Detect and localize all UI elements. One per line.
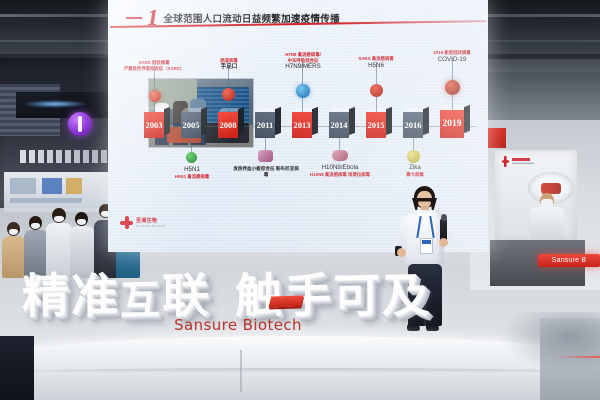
- timeline-label-2014: H10N8/Ebola H10N8 禽流感病毒 埃博拉病毒: [308, 164, 372, 177]
- booth-left-wordmark: [20, 150, 112, 163]
- timeline-block-2008: 2008: [218, 112, 243, 138]
- label-zh: H5N1 禽流感病毒: [164, 174, 220, 180]
- presenter-shoe: [426, 324, 439, 331]
- timeline-year-label: 2019: [440, 110, 464, 138]
- timeline-year-label: 2008: [218, 112, 238, 138]
- headline-red-accent: [268, 295, 303, 307]
- label-en: COVID-19: [418, 56, 486, 64]
- timeline-label-2016: Zika 寨卡病毒: [388, 164, 442, 177]
- headline-char: 联: [162, 275, 209, 321]
- timeline-label-2019: 2019 新型冠状病毒 COVID-19: [418, 50, 486, 63]
- red-light-streak: [556, 356, 600, 358]
- timeline-year-label: 2015: [366, 112, 386, 138]
- headline-char: 准: [71, 275, 118, 321]
- virus-icon-sars: [149, 90, 161, 102]
- face-mask-icon: [541, 199, 553, 207]
- timeline-label-2015: SARS 禽流感病毒 H5N6: [344, 56, 408, 69]
- timeline-block-2014: 2014: [329, 112, 354, 138]
- label-zh2: 严重急性呼吸综合征（SARS）: [114, 66, 194, 72]
- label-en: H5N1: [164, 166, 220, 174]
- headline-char: 及: [382, 275, 429, 321]
- label-en: Zika: [388, 164, 442, 172]
- label-zh2: 手足口: [200, 64, 258, 71]
- timeline-year-label: 2003: [144, 112, 164, 138]
- podium-seam: [240, 350, 242, 392]
- timeline-year-label: 2011: [255, 112, 275, 138]
- label-zh: 寨卡病毒: [388, 172, 442, 178]
- label-en: H7N9/MERS: [268, 63, 338, 71]
- timeline-year-label: 2005: [181, 112, 201, 138]
- booth-right-sansure-logo: [502, 154, 542, 165]
- screenshot-root: Sansure B 1 全球范围人口流动日益频繁加速疫情传播 2003 2005…: [0, 0, 600, 400]
- presenter-badge: [420, 238, 433, 254]
- title-dash: [126, 17, 142, 19]
- timeline-block-2005: 2005: [181, 112, 206, 138]
- timeline-year-label: 2014: [329, 112, 349, 138]
- virus-icon-sfts: [258, 150, 273, 162]
- virus-icon-h5n1: [186, 152, 197, 163]
- headline-char: 互: [120, 282, 160, 321]
- timeline-block-2011: 2011: [255, 112, 280, 138]
- timeline-block-2013: 2013: [292, 112, 317, 138]
- timeline-label-2008: 肠道病毒 手足口: [200, 58, 258, 70]
- timeline-label-2003: SARS 冠状病毒 严重急性呼吸综合征（SARS）: [114, 60, 194, 71]
- timeline-block-2015: 2015: [366, 112, 391, 138]
- timeline-block-2003: 2003: [144, 112, 169, 138]
- headline-char: 可: [333, 275, 380, 321]
- sansure-banner-right: Sansure B: [538, 254, 600, 267]
- virus-icon-ebola: [332, 150, 348, 161]
- label-zh: 发热伴血小板综合征 新布尼亚病毒: [232, 166, 300, 177]
- virus-icon-h5n6: [370, 84, 383, 97]
- timeline-label-2013: H7N9 禽流感病毒/ 中东呼吸综合征 H7N9/MERS: [268, 52, 338, 71]
- slide-sansure-logo: 圣湘生物 Sansure Biotech: [120, 216, 165, 229]
- presenter-shoe: [407, 324, 420, 331]
- label-en: H5N6: [344, 62, 408, 70]
- stage-subtitle: Sansure Biotech: [108, 316, 368, 334]
- timeline-block-2019: 2019: [440, 110, 470, 136]
- virus-icon-zika: [407, 150, 420, 163]
- booth-staff-body: [530, 207, 564, 243]
- timeline-block-2016: 2016: [403, 112, 428, 138]
- virus-icon-covid19: [445, 80, 460, 95]
- timeline-label-2011: 发热伴血小板综合征 新布尼亚病毒: [232, 166, 300, 177]
- timeline-year-label: 2016: [403, 112, 423, 138]
- label-en: H10N8/Ebola: [308, 164, 372, 172]
- timeline-stem: [154, 66, 155, 112]
- virus-icon-enterovirus: [222, 88, 235, 101]
- timeline-year-label: 2013: [292, 112, 312, 138]
- purple-circle-logo-icon: [68, 112, 92, 136]
- timeline-label-2005: H5N1 H5N1 禽流感病毒: [164, 166, 220, 179]
- presenter-left-hand: [397, 248, 406, 257]
- logo-name-zh: 圣湘生物: [136, 217, 165, 224]
- stage-shadow: [500, 312, 600, 372]
- stage-floor-left-dark: [0, 336, 34, 400]
- headline-char: 精: [22, 275, 69, 321]
- sansure-cross-icon: [120, 216, 133, 229]
- stage-headline-letters: 精 准 互 联 触 手 可 及: [22, 258, 452, 320]
- presenter-right-hand: [439, 238, 448, 247]
- label-zh: H10N8 禽流感病毒 埃博拉病毒: [308, 172, 372, 178]
- virus-icon-h7n9: [296, 84, 310, 98]
- booth-left-blue-lightbar: [22, 100, 88, 108]
- logo-name-en: Sansure Biotech: [136, 224, 165, 228]
